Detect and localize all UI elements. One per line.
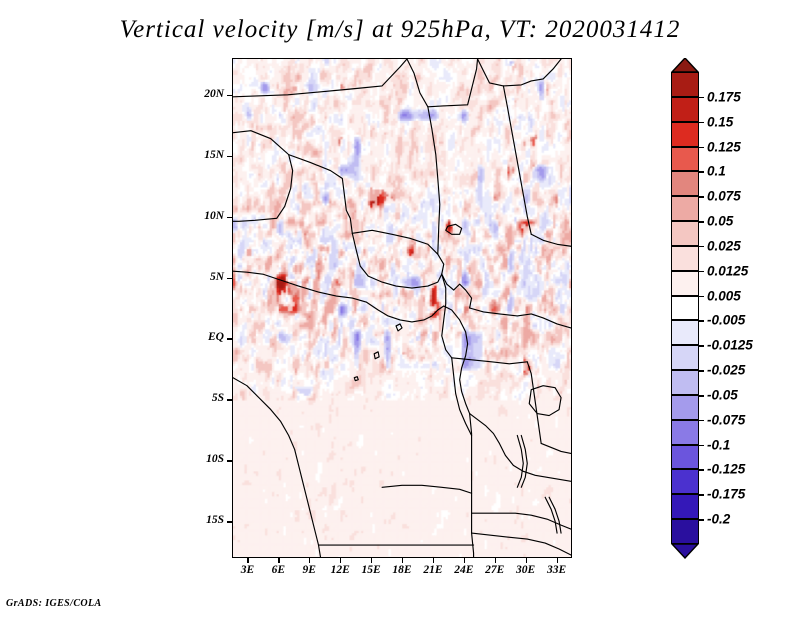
colorbar-segment — [671, 469, 699, 494]
y-axis-tick-label: 5N — [190, 271, 224, 283]
colorbar-tick-label: 0.15 — [707, 114, 733, 129]
colorbar-tick-label: 0.0125 — [707, 263, 748, 278]
colorbar-tick — [699, 246, 704, 248]
colorbar-segment — [671, 171, 699, 196]
colorbar-tick — [699, 271, 704, 273]
colorbar-segment — [671, 72, 699, 97]
colorbar-tick-label: -0.075 — [707, 412, 745, 427]
x-axis-tick-label: 33E — [537, 564, 577, 576]
colorbar-tick-label: 0.075 — [707, 189, 741, 204]
colorbar-tick — [699, 196, 704, 198]
colorbar-segment — [671, 445, 699, 470]
colorbar-segment — [671, 122, 699, 147]
colorbar-tick-label: -0.05 — [707, 387, 738, 402]
x-axis-tick — [402, 558, 403, 563]
colorbar-tick — [699, 296, 704, 298]
colorbar-tick-label: 0.005 — [707, 288, 741, 303]
colorbar-segment — [671, 196, 699, 221]
colorbar-tick — [699, 171, 704, 173]
colorbar-tick-label: -0.025 — [707, 363, 745, 378]
colorbar-segment — [671, 320, 699, 345]
colorbar-segment — [671, 147, 699, 172]
colorbar-tick — [699, 345, 704, 347]
colorbar-segment — [671, 420, 699, 445]
x-axis-tick — [526, 558, 527, 563]
y-axis-tick-label: 15N — [190, 149, 224, 161]
colorbar-segment — [671, 97, 699, 122]
colorbar-segment — [671, 519, 699, 544]
colorbar-tick-label: -0.125 — [707, 462, 745, 477]
y-axis-tick — [227, 278, 232, 279]
colorbar-tick-label: -0.005 — [707, 313, 745, 328]
colorbar-tick — [699, 469, 704, 471]
y-axis-tick — [227, 156, 232, 157]
colorbar-segment — [671, 271, 699, 296]
colorbar-tick — [699, 221, 704, 223]
x-axis-tick — [557, 558, 558, 563]
colorbar-tick-label: 0.125 — [707, 139, 741, 154]
x-axis-tick — [495, 558, 496, 563]
colorbar-segment — [671, 494, 699, 519]
x-axis-tick — [247, 558, 248, 563]
colorbar-tick — [699, 320, 704, 322]
colorbar-tick-label: -0.2 — [707, 512, 730, 527]
colorbar-bottom-arrow — [671, 544, 699, 559]
x-axis-tick — [371, 558, 372, 563]
colorbar-tick-label: -0.1 — [707, 437, 730, 452]
map-plot-area — [232, 58, 572, 558]
colorbar-tick-label: 0.1 — [707, 164, 726, 179]
y-axis-tick — [227, 217, 232, 218]
y-axis-tick — [227, 95, 232, 96]
y-axis-tick-label: 10S — [190, 453, 224, 465]
x-axis-tick — [464, 558, 465, 563]
colorbar-tick — [699, 445, 704, 447]
y-axis-tick — [227, 460, 232, 461]
x-axis-tick — [309, 558, 310, 563]
x-axis-tick — [278, 558, 279, 563]
page-title: Vertical velocity [m/s] at 925hPa, VT: 2… — [0, 16, 800, 44]
y-axis-tick-label: 20N — [190, 88, 224, 100]
colorbar-tick-label: 0.025 — [707, 238, 741, 253]
colorbar-tick — [699, 97, 704, 99]
x-axis-tick — [433, 558, 434, 563]
colorbar-tick-label: -0.175 — [707, 487, 745, 502]
colorbar: 0.1750.150.1250.10.0750.050.0250.01250.0… — [671, 58, 701, 558]
country-borders-overlay — [233, 59, 571, 557]
colorbar-segment — [671, 395, 699, 420]
y-axis-tick-label: 5S — [190, 392, 224, 404]
y-axis-tick — [227, 399, 232, 400]
colorbar-tick-label: -0.0125 — [707, 338, 753, 353]
colorbar-segment — [671, 246, 699, 271]
colorbar-tick — [699, 122, 704, 124]
colorbar-tick — [699, 147, 704, 149]
colorbar-segment — [671, 221, 699, 246]
colorbar-tick — [699, 370, 704, 372]
y-axis-tick — [227, 338, 232, 339]
grads-attribution: GrADS: IGES/COLA — [6, 598, 102, 609]
colorbar-tick-label: 0.05 — [707, 214, 733, 229]
colorbar-tick — [699, 519, 704, 521]
y-axis-tick-label: 10N — [190, 210, 224, 222]
colorbar-top-arrow — [671, 58, 699, 73]
y-axis-tick — [227, 521, 232, 522]
colorbar-tick — [699, 494, 704, 496]
colorbar-segment — [671, 345, 699, 370]
colorbar-tick — [699, 420, 704, 422]
x-axis-tick — [340, 558, 341, 563]
colorbar-segment — [671, 370, 699, 395]
colorbar-segment — [671, 296, 699, 321]
colorbar-tick-label: 0.175 — [707, 89, 741, 104]
y-axis-tick-label: 15S — [190, 514, 224, 526]
y-axis-tick-label: EQ — [190, 331, 224, 343]
colorbar-tick — [699, 395, 704, 397]
